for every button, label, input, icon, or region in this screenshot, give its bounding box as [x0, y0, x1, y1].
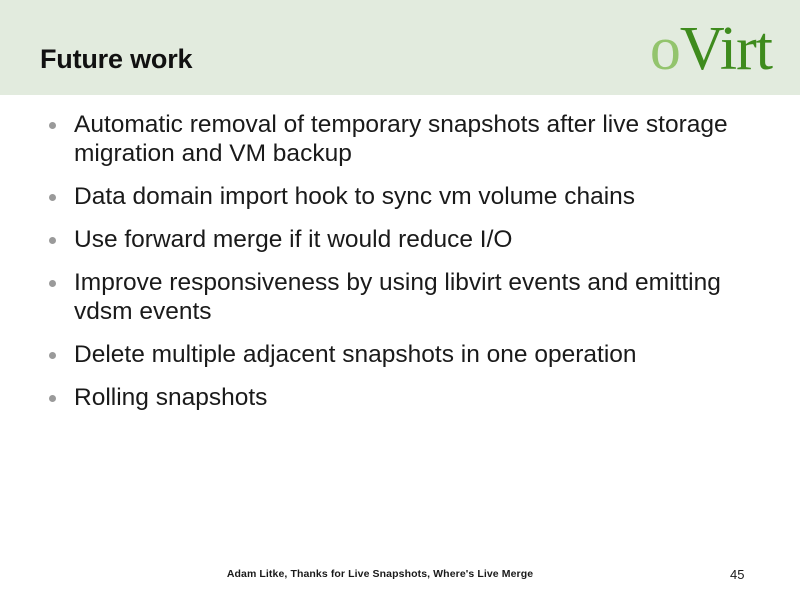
bullet-list: Automatic removal of temporary snapshots… — [40, 110, 756, 412]
slide-footer-note: Adam Litke, Thanks for Live Snapshots, W… — [0, 568, 760, 580]
list-item-label: Improve responsiveness by using libvirt … — [74, 268, 756, 326]
page-number: 45 — [730, 567, 770, 582]
bullet-dot-icon — [49, 280, 56, 287]
ovirt-logo: oVirt — [650, 16, 772, 82]
ovirt-logo-o: o — [650, 15, 680, 83]
list-item: Delete multiple adjacent snapshots in on… — [40, 340, 756, 369]
presentation-slide: Future work oVirt Automatic removal of t… — [0, 0, 800, 600]
bullet-dot-icon — [49, 194, 56, 201]
list-item-label: Use forward merge if it would reduce I/O — [74, 225, 756, 254]
list-item: Use forward merge if it would reduce I/O — [40, 225, 756, 254]
ovirt-logo-virt: Virt — [680, 15, 772, 83]
bullet-dot-icon — [49, 122, 56, 129]
list-item: Rolling snapshots — [40, 383, 756, 412]
list-item-label: Delete multiple adjacent snapshots in on… — [74, 340, 756, 369]
list-item: Data domain import hook to sync vm volum… — [40, 182, 756, 211]
bullet-dot-icon — [49, 237, 56, 244]
page-title: Future work — [40, 44, 192, 75]
list-item: Improve responsiveness by using libvirt … — [40, 268, 756, 326]
bullet-dot-icon — [49, 352, 56, 359]
list-item: Automatic removal of temporary snapshots… — [40, 110, 756, 168]
list-item-label: Data domain import hook to sync vm volum… — [74, 182, 756, 211]
bullet-dot-icon — [49, 395, 56, 402]
list-item-label: Rolling snapshots — [74, 383, 756, 412]
list-item-label: Automatic removal of temporary snapshots… — [74, 110, 756, 168]
